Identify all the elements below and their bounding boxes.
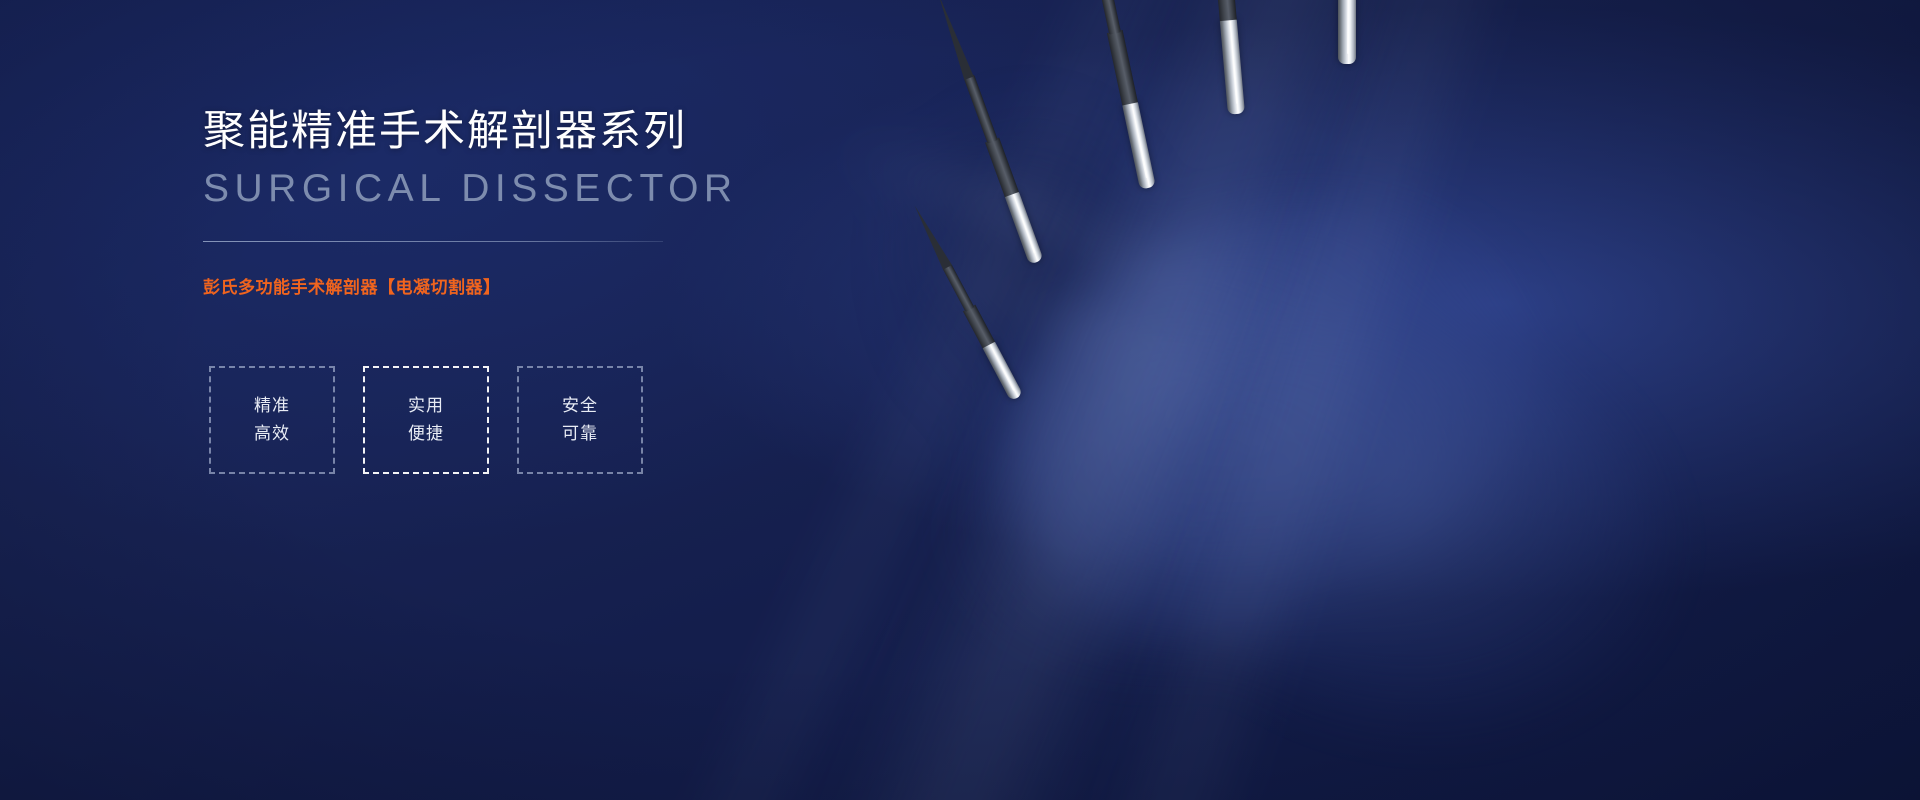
feature-box-3-line1: 安全 xyxy=(562,392,598,420)
feature-box-1[interactable]: 精准 高效 xyxy=(209,366,335,474)
feature-box-2-line1: 实用 xyxy=(408,392,444,420)
feature-box-3-line2: 可靠 xyxy=(562,420,598,448)
feature-box-3[interactable]: 安全 可靠 xyxy=(517,366,643,474)
feature-box-1-line1: 精准 xyxy=(254,392,290,420)
banner-text-block: 聚能精准手术解剖器系列 SURGICAL DISSECTOR 彭氏多功能手术解剖… xyxy=(203,108,903,298)
product-name-highlight: 彭氏多功能手术解剖器【电凝切割器】 xyxy=(203,273,903,298)
hero-banner: 聚能精准手术解剖器系列 SURGICAL DISSECTOR 彭氏多功能手术解剖… xyxy=(0,0,1920,800)
page-title: 聚能精准手术解剖器系列 xyxy=(203,108,903,154)
page-subtitle-english: SURGICAL DISSECTOR xyxy=(203,168,903,211)
feature-box-2[interactable]: 实用 便捷 xyxy=(363,366,489,474)
feature-box-group: 精准 高效 实用 便捷 安全 可靠 xyxy=(209,366,643,474)
title-divider xyxy=(203,241,663,242)
feature-box-2-line2: 便捷 xyxy=(408,420,444,448)
feature-box-1-line2: 高效 xyxy=(254,420,290,448)
